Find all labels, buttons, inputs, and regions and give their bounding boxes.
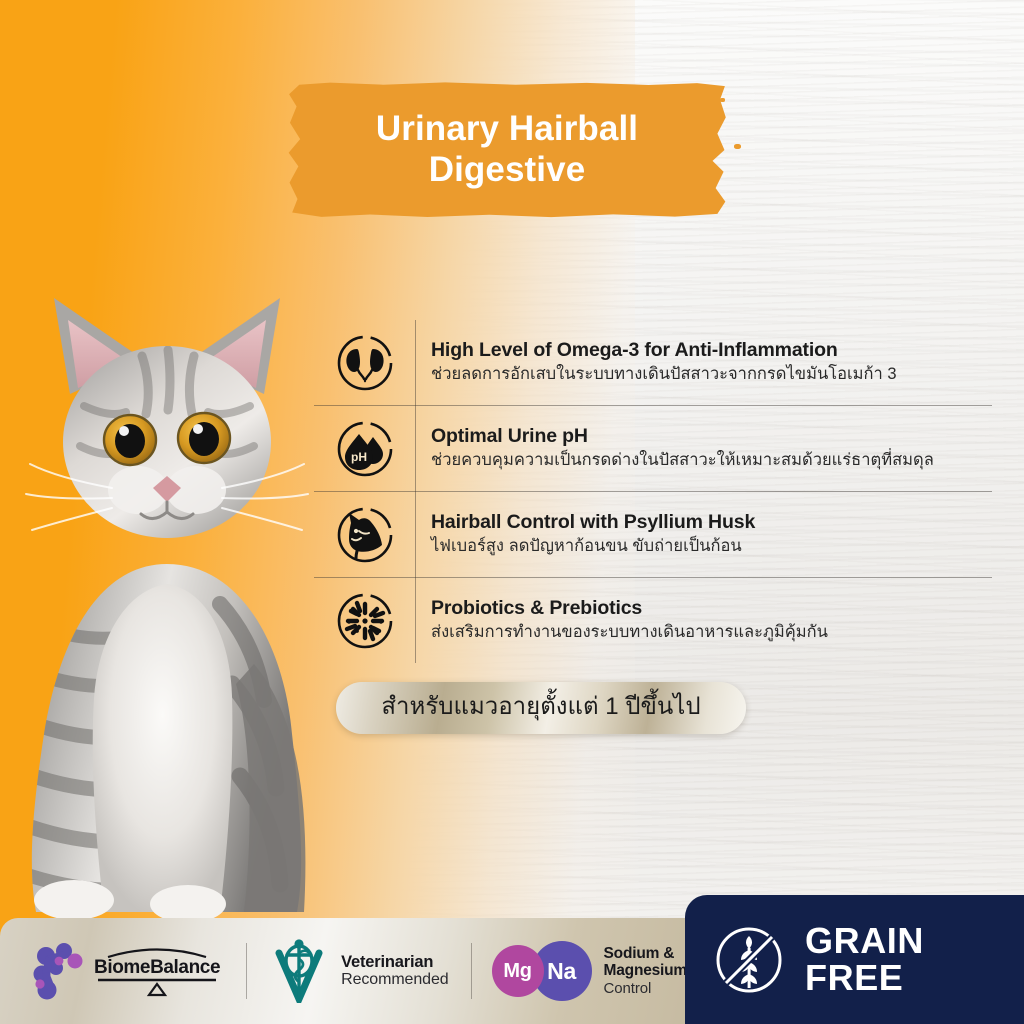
feature-title: Probiotics & Prebiotics [431, 597, 828, 620]
veterinarian-line-1: Veterinarian [341, 953, 448, 971]
biome-balance-name: BiomeBalance [94, 958, 220, 977]
cat-grooming-icon [314, 505, 415, 565]
grain-free-text: GRAIN FREE [805, 923, 924, 996]
grain-free-badge: GRAIN FREE [685, 895, 1024, 1024]
ph-droplet-icon: pH [314, 419, 415, 479]
feature-text: High Level of Omega-3 for Anti-Inflammat… [415, 339, 897, 385]
feature-text: Probiotics & Prebiotics ส่งเสริมการทำงาน… [415, 597, 828, 643]
age-recommendation-pill: สำหรับแมวอายุตั้งแต่ 1 ปีขึ้นไป [336, 682, 746, 734]
feature-title: High Level of Omega-3 for Anti-Inflammat… [431, 339, 897, 362]
product-banner: Urinary Hairball Digestive High Level of… [0, 0, 1024, 1024]
grain-free-line-1: GRAIN [805, 923, 924, 960]
hero-cat-image [0, 264, 352, 964]
kidney-icon [314, 333, 415, 393]
certification-badge-bar: BiomeBalance Veter [0, 918, 760, 1024]
feature-text: Optimal Urine pH ช่วยควบคุมความเป็นกรดด่… [415, 425, 934, 471]
balance-arc-icon [98, 946, 216, 958]
badge-divider [471, 943, 472, 999]
feature-row: Probiotics & Prebiotics ส่งเสริมการทำงาน… [314, 577, 992, 663]
cat-illustration [0, 264, 352, 964]
magnesium-circle: Mg [492, 945, 544, 997]
biome-molecule-icon [26, 940, 88, 1002]
feature-row: Hairball Control with Psyllium Husk ไฟเบ… [314, 491, 992, 577]
feature-subtitle: ช่วยลดการอักเสบในระบบทางเดินปัสสาวะจากกร… [431, 364, 897, 385]
sodium-magnesium-text: Sodium & Magnesium Control [604, 945, 687, 998]
veterinarian-badge: Veterinarian Recommended [247, 918, 448, 1024]
veterinarian-text: Veterinarian Recommended [341, 953, 448, 990]
feature-row: High Level of Omega-3 for Anti-Inflammat… [314, 320, 992, 405]
age-pill-label: สำหรับแมวอายุตั้งแต่ 1 ปีขึ้นไป [381, 695, 700, 719]
minerals-line-2: Magnesium [604, 962, 687, 980]
grain-free-line-2: FREE [805, 960, 924, 997]
feature-title: Hairball Control with Psyllium Husk [431, 511, 755, 534]
biome-balance-wordmark: BiomeBalance [94, 946, 220, 997]
page-title: Urinary Hairball Digestive [286, 82, 728, 218]
feature-title: Optimal Urine pH [431, 425, 934, 448]
caduceus-icon [269, 939, 329, 1003]
title-banner: Urinary Hairball Digestive [286, 82, 728, 218]
veterinarian-line-2: Recommended [341, 971, 448, 989]
svg-text:pH: pH [351, 450, 367, 464]
title-line-1: Urinary Hairball [376, 109, 638, 150]
sodium-magnesium-badge: Mg Na Sodium & Magnesium Control [492, 918, 687, 1024]
no-wheat-icon [711, 922, 787, 998]
feature-list: High Level of Omega-3 for Anti-Inflammat… [314, 320, 992, 663]
balance-fulcrum-icon [94, 977, 220, 997]
feature-subtitle: ไฟเบอร์สูง ลดปัญหาก้อนขน ขับถ่ายเป็นก้อน [431, 536, 755, 557]
feature-row: pH Optimal Urine pH ช่วยควบคุมความเป็นกร… [314, 405, 992, 491]
feature-subtitle: ช่วยควบคุมความเป็นกรดด่างในปัสสาวะให้เหม… [431, 450, 934, 471]
biome-balance-badge: BiomeBalance [0, 918, 220, 1024]
feature-text: Hairball Control with Psyllium Husk ไฟเบ… [415, 511, 755, 557]
minerals-line-3: Control [604, 980, 687, 997]
probiotics-bacteria-icon [314, 591, 415, 651]
banner-paint-fleck [734, 144, 741, 149]
feature-subtitle: ส่งเสริมการทำงานของระบบทางเดินอาหารและภู… [431, 622, 828, 643]
title-line-2: Digestive [429, 150, 586, 191]
minerals-line-1: Sodium & [604, 945, 687, 963]
